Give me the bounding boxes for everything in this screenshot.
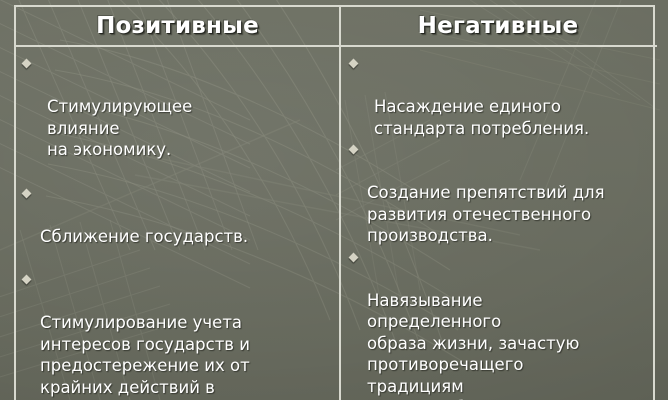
table-body-row: Стимулирующее влияние на экономику. Сбли…: [16, 47, 657, 400]
negative-list: Насаждение единого стандарта потребления…: [348, 53, 653, 400]
list-item: Насаждение единого стандарта потребления…: [348, 53, 653, 139]
list-item-text: Сближение государств.: [40, 227, 248, 246]
list-item: Стимулирующее влияние на экономику.: [21, 53, 335, 161]
table-header-cell-positive: Позитивные: [16, 7, 339, 45]
list-item: Сближение государств.: [21, 183, 335, 248]
table-column-negative: Насаждение единого стандарта потребления…: [339, 47, 657, 400]
list-item: Стимулирование учета интересов государст…: [21, 269, 335, 400]
table-header-row: Позитивные Негативные: [16, 7, 657, 45]
slide-root: Позитивные Негативные Стимулирующее влия…: [0, 0, 668, 400]
list-item-text: Стимулирующее влияние на экономику.: [47, 97, 192, 159]
list-item-text: Создание препятствий для развития отечес…: [367, 183, 605, 245]
list-item-text: Стимулирование учета интересов государст…: [40, 313, 250, 400]
header-label-negative: Негативные: [418, 13, 579, 39]
diamond-bullet-icon: [349, 59, 359, 69]
list-item-text: Насаждение единого стандарта потребления…: [374, 97, 589, 138]
diamond-bullet-icon: [22, 188, 32, 198]
positive-list: Стимулирующее влияние на экономику. Сбли…: [21, 53, 335, 400]
table-header-cell-negative: Негативные: [339, 7, 657, 45]
diamond-bullet-icon: [349, 145, 359, 155]
list-item-text: Навязывание определенного образа жизни, …: [367, 291, 579, 400]
list-item: Навязывание определенного образа жизни, …: [348, 247, 653, 400]
diamond-bullet-icon: [22, 59, 32, 69]
table-column-positive: Стимулирующее влияние на экономику. Сбли…: [16, 47, 339, 400]
header-label-positive: Позитивные: [96, 13, 259, 39]
comparison-table: Позитивные Негативные Стимулирующее влия…: [14, 5, 655, 400]
list-item: Создание препятствий для развития отечес…: [348, 139, 653, 247]
diamond-bullet-icon: [22, 275, 32, 285]
diamond-bullet-icon: [349, 252, 359, 262]
